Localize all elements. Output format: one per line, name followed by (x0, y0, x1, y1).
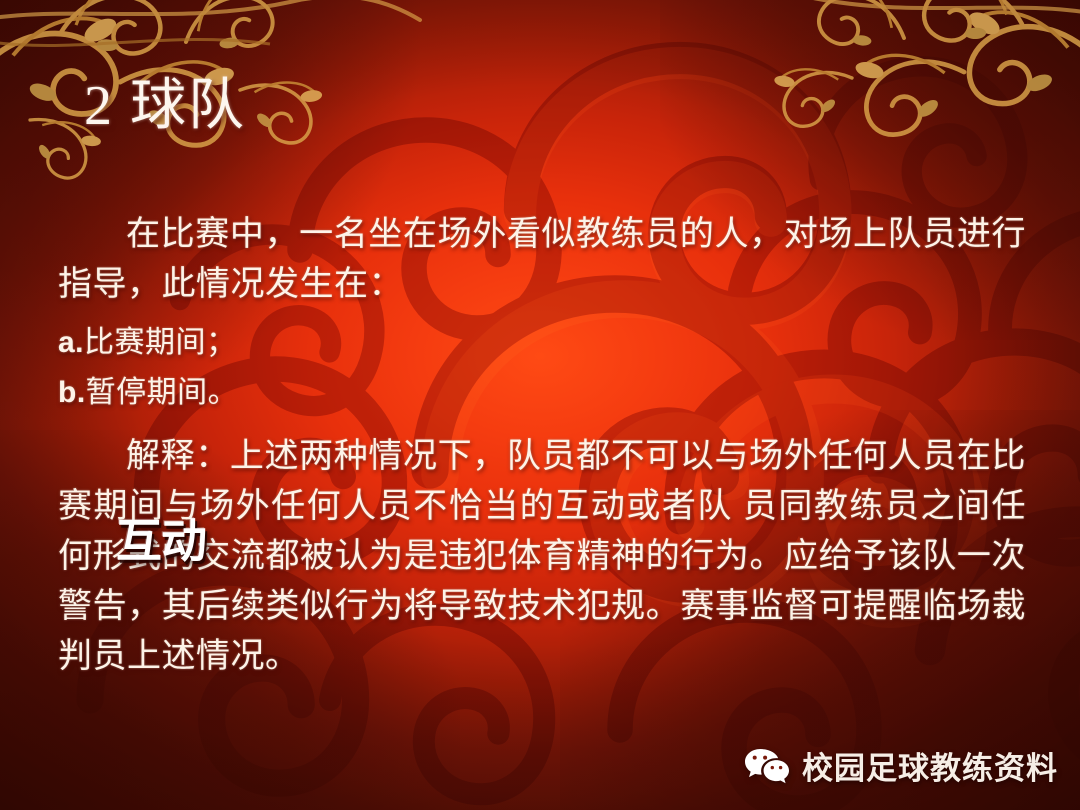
list-text-b: 暂停期间。 (86, 376, 239, 409)
watermark: 校园足球教练资料 (744, 743, 1058, 788)
list-text-a: 比赛期间； (84, 326, 237, 359)
list-item: b.暂停期间。 (58, 368, 1026, 418)
overlay-word-interaction: 互动 (116, 516, 206, 566)
watermark-label: 校园足球教练资料 (802, 743, 1058, 788)
slide-body: 在比赛中，一名坐在场外看似教练员的人，对场上队员进行指导，此情况发生在： a.比… (58, 210, 1026, 682)
list-marker-b: b. (58, 376, 86, 409)
page-title: 2 球队 (84, 76, 246, 138)
list-item: a.比赛期间； (58, 318, 1026, 368)
presentation-slide: 2 球队 在比赛中，一名坐在场外看似教练员的人，对场上队员进行指导，此情况发生在… (0, 0, 1080, 810)
wechat-icon (744, 747, 790, 785)
paragraph-intro: 在比赛中，一名坐在场外看似教练员的人，对场上队员进行指导，此情况发生在： (58, 210, 1026, 310)
list-marker-a: a. (58, 326, 84, 359)
